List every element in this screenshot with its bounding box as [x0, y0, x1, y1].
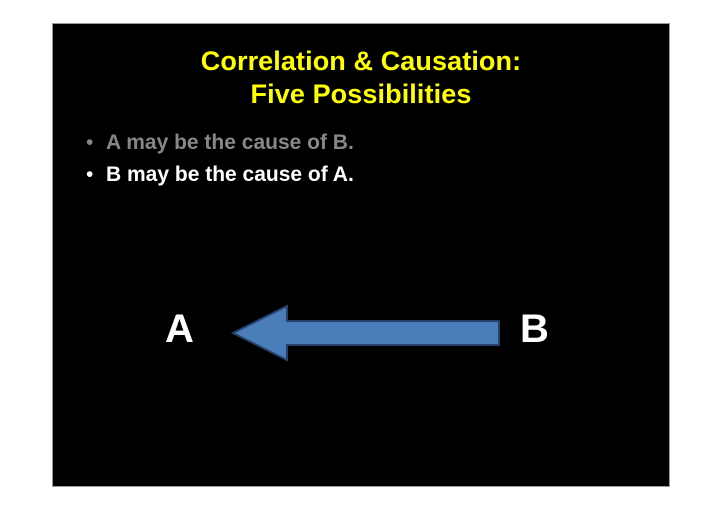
title-line-1: Correlation & Causation:: [53, 45, 669, 78]
presentation-slide: Correlation & Causation: Five Possibilit…: [52, 23, 670, 487]
node-label-a: A: [165, 309, 194, 349]
bullet-item-1-label: A may be the cause of B.: [106, 131, 354, 155]
node-label-b: B: [520, 309, 549, 349]
page-canvas: Correlation & Causation: Five Possibilit…: [0, 0, 720, 509]
bullet-item-2-label: B may be the cause of A.: [106, 163, 354, 187]
bullet-item-2: • B may be the cause of A.: [86, 163, 646, 195]
title-line-2: Five Possibilities: [53, 78, 669, 111]
causal-arrow-icon: [231, 302, 501, 364]
bullet-point-icon: •: [86, 164, 106, 185]
bullet-list: • A may be the cause of B. • B may be th…: [86, 131, 646, 195]
bullet-point-icon: •: [86, 132, 106, 153]
bullet-item-1: • A may be the cause of B.: [86, 131, 646, 163]
slide-title: Correlation & Causation: Five Possibilit…: [53, 45, 669, 111]
